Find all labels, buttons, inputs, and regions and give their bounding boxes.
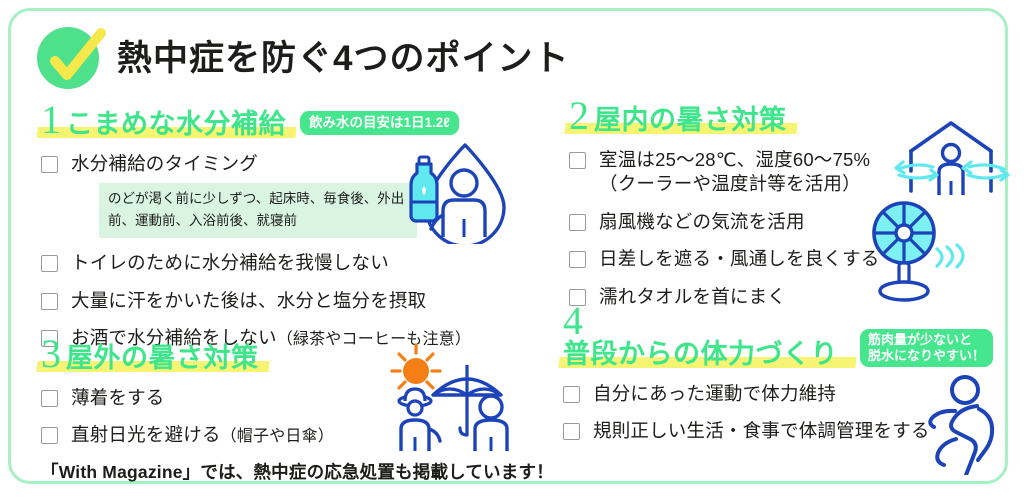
sun-parasol-people-icon <box>383 343 535 460</box>
water-drop-person-bottle-icon <box>403 139 513 249</box>
section-4-heading: 4普段からの体力づくり 筋肉量が少ないと 脱水になりやすい！ <box>563 329 993 369</box>
list-item-label-line2: （クーラーや温度計等を活用） <box>599 173 861 194</box>
list-item[interactable]: 大量に汗をかいた後は、水分と塩分を摂取 <box>41 289 511 313</box>
checkbox[interactable] <box>41 156 58 173</box>
list-item-label: 大量に汗をかいた後は、水分と塩分を摂取 <box>71 289 426 313</box>
list-item-label: 室温は25〜28℃、湿度60〜75% （クーラーや温度計等を活用） <box>599 148 870 197</box>
list-item-label-main: 室温は25〜28℃、湿度60〜75% <box>599 149 870 170</box>
section-4-badge-line2: 脱水になりやすい！ <box>868 348 985 363</box>
section-4-number: 4 <box>563 298 588 343</box>
section-1-number: 1 <box>41 97 66 142</box>
list-item-label: 規則正しい生活・食事で体調管理をする <box>593 419 930 443</box>
footer-note: 「With Magazine」では、熱中症の応急処置も掲載しています！ <box>41 459 554 484</box>
checkbox[interactable] <box>41 293 58 310</box>
running-person-icon <box>919 373 1011 480</box>
list-item-label: トイレのために水分補給を我慢しない <box>71 251 389 275</box>
section-1-title: こまめな水分補給 <box>66 109 286 139</box>
check-circle-icon <box>37 27 99 89</box>
section-2-number: 2 <box>569 93 594 138</box>
section-3-number: 3 <box>41 331 66 376</box>
list-item-label: 直射日光を避ける（帽子や日傘） <box>71 423 334 447</box>
checkbox[interactable] <box>563 423 580 440</box>
section-2-title: 屋内の暑さ対策 <box>594 105 787 135</box>
list-item-label: 自分にあった運動で体力維持 <box>593 382 836 406</box>
list-item[interactable]: トイレのために水分補給を我慢しない <box>41 251 511 275</box>
list-item-label-note: （帽子や日傘） <box>221 428 334 445</box>
electric-fan-icon <box>859 197 979 312</box>
section-4-title: 普段からの体力づくり <box>563 339 838 369</box>
list-item-label-main: 直射日光を避ける <box>71 424 221 445</box>
checkbox[interactable] <box>563 386 580 403</box>
checkbox[interactable] <box>41 427 58 444</box>
infographic-card: 熱中症を防ぐ4つのポイント 1こまめな水分補給 飲み水の目安は1日1.2ℓ 水分… <box>8 8 1008 484</box>
section-3-title: 屋外の暑さ対策 <box>66 343 259 373</box>
checkbox[interactable] <box>569 152 586 169</box>
section-4-badge: 筋肉量が少ないと 脱水になりやすい！ <box>860 329 993 367</box>
section-4-badge-line1: 筋肉量が少ないと <box>868 332 972 347</box>
list-item-label: 水分補給のタイミング <box>71 153 258 174</box>
list-item-label: 薄着をする <box>71 386 165 410</box>
list-item-label: 扇風機などの気流を活用 <box>599 210 805 234</box>
list-item-label: 日差しを遮る・風通しを良くする <box>599 247 880 271</box>
checkbox[interactable] <box>569 214 586 231</box>
header: 熱中症を防ぐ4つのポイント <box>37 27 569 89</box>
section-1-heading: 1こまめな水分補給 飲み水の目安は1日1.2ℓ <box>41 99 511 139</box>
checkbox[interactable] <box>41 255 58 272</box>
page-title: 熱中症を防ぐ4つのポイント <box>117 41 569 76</box>
checkbox[interactable] <box>41 390 58 407</box>
checkbox[interactable] <box>569 251 586 268</box>
list-item-note: のどが渇く前に少しずつ、起床時、毎食後、外出前、運動前、入浴前後、就寝前 <box>99 183 417 238</box>
section-1-badge: 飲み水の目安は1日1.2ℓ <box>300 111 459 135</box>
